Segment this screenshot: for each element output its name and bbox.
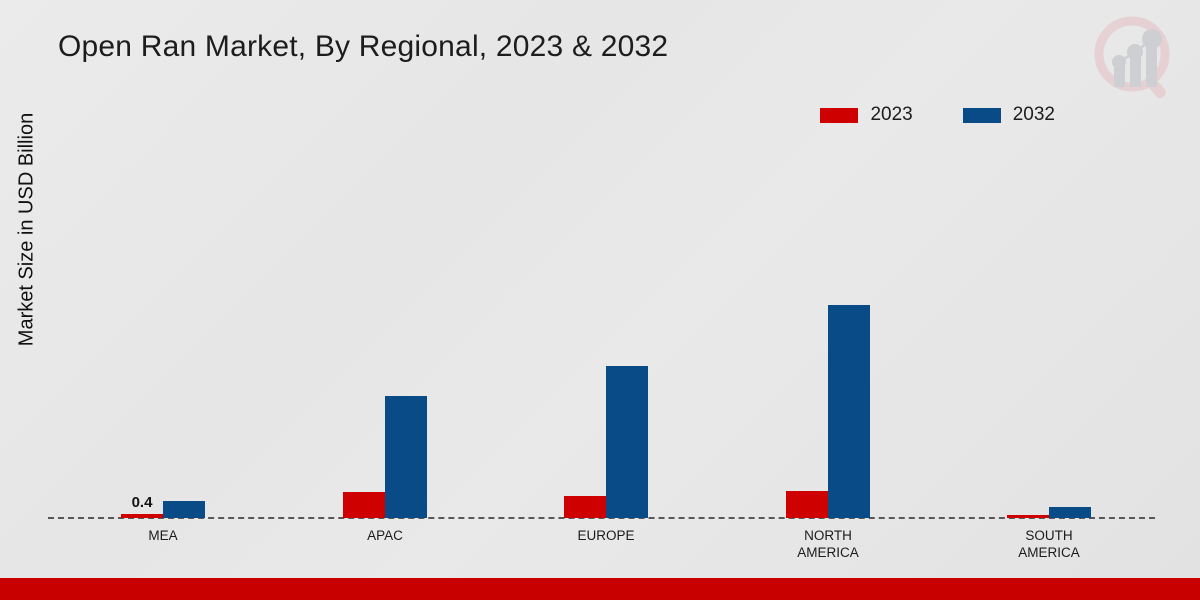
x-tick-label-north-america-line1: NORTH bbox=[758, 527, 898, 544]
bar-group-apac bbox=[330, 278, 440, 518]
bar-north-america-2032[interactable] bbox=[828, 305, 870, 518]
x-tick-label-apac: APAC bbox=[315, 527, 455, 544]
bar-value-mea-2023: 0.4 bbox=[132, 494, 153, 511]
bar-mea-2023[interactable]: 0.4 bbox=[121, 514, 163, 518]
x-tick-label-south-america: SOUTH AMERICA bbox=[979, 527, 1119, 561]
x-tick-label-south-america-line1: SOUTH bbox=[979, 527, 1119, 544]
bar-apac-2023[interactable] bbox=[343, 492, 385, 518]
x-tick-label-europe-line1: EUROPE bbox=[536, 527, 676, 544]
x-tick-label-mea: MEA bbox=[93, 527, 233, 544]
x-tick-label-europe: EUROPE bbox=[536, 527, 676, 544]
bar-north-america-2023[interactable] bbox=[786, 491, 828, 518]
bar-apac-2032[interactable] bbox=[385, 396, 427, 518]
bar-group-europe bbox=[551, 278, 661, 518]
x-tick-label-south-america-line2: AMERICA bbox=[979, 544, 1119, 561]
x-tick-label-mea-line1: MEA bbox=[93, 527, 233, 544]
chart-container: Open Ran Market, By Regional, 2023 & 203… bbox=[0, 0, 1200, 600]
bar-group-north-america bbox=[773, 278, 883, 518]
x-tick-label-apac-line1: APAC bbox=[315, 527, 455, 544]
bottom-accent-band bbox=[0, 578, 1200, 600]
x-tick-label-north-america-line2: AMERICA bbox=[758, 544, 898, 561]
bar-europe-2032[interactable] bbox=[606, 366, 648, 518]
bar-south-america-2023[interactable] bbox=[1007, 515, 1049, 518]
plot-area: 0.4 MEA APAC EUROPE NORTH bbox=[0, 0, 1200, 600]
bar-group-mea: 0.4 bbox=[108, 278, 218, 518]
x-tick-label-north-america: NORTH AMERICA bbox=[758, 527, 898, 561]
bar-group-south-america bbox=[994, 278, 1104, 518]
bar-south-america-2032[interactable] bbox=[1049, 507, 1091, 518]
bar-europe-2023[interactable] bbox=[564, 496, 606, 518]
bar-mea-2032[interactable] bbox=[163, 501, 205, 518]
